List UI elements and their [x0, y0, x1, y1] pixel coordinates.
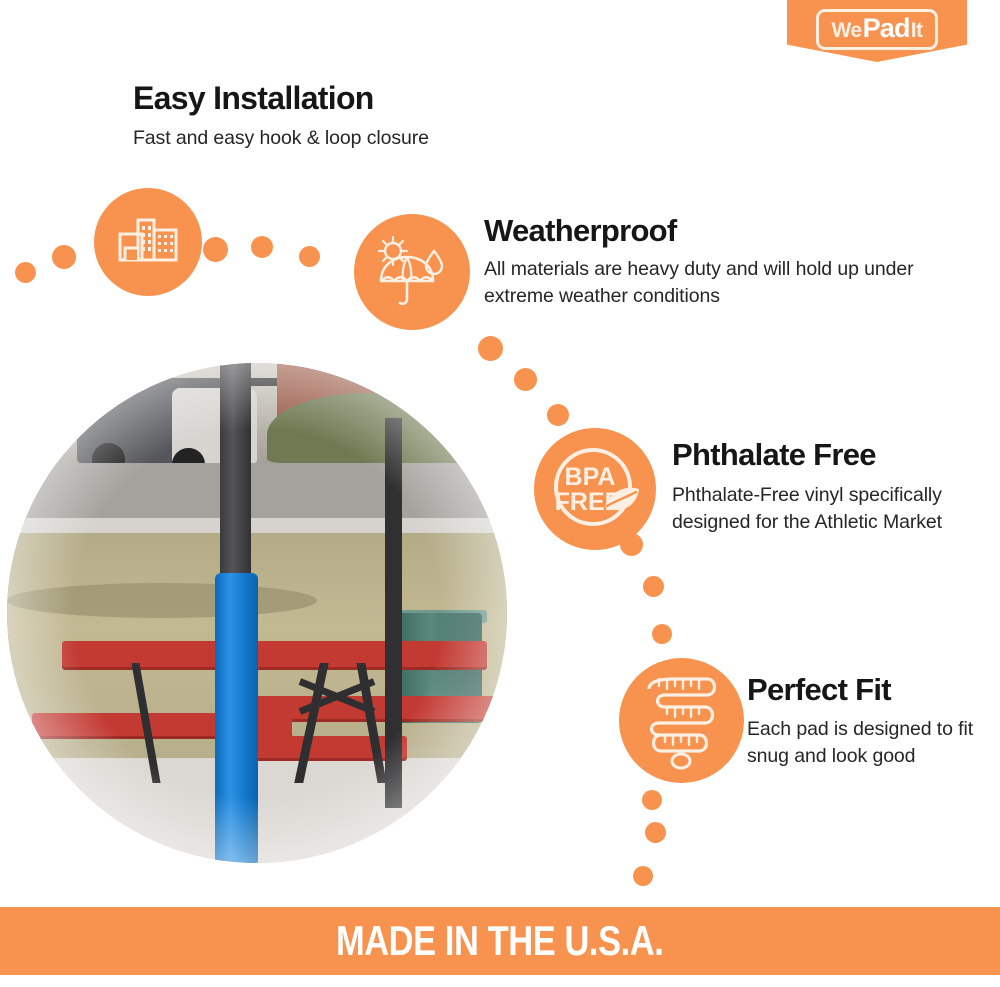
trail-dot [514, 368, 537, 391]
trail-dot [547, 404, 569, 426]
brand-logo-pad: Pad [862, 15, 911, 42]
trail-dot [251, 236, 273, 258]
building-icon [94, 188, 202, 296]
product-photo-scene [7, 363, 507, 863]
bpa-label-line1: BPA [565, 463, 616, 491]
infographic-page: We Pad It Easy Installation Fast and eas… [0, 0, 1000, 987]
feature-title-perfect-fit: Perfect Fit [747, 672, 891, 708]
feature-title-weatherproof: Weatherproof [484, 213, 677, 249]
made-in-usa-text: MADE IN THE U.S.A. [336, 917, 663, 965]
feature-description-easy-installation: Fast and easy hook & loop closure [133, 125, 533, 152]
feature-title-phthalate-free: Phthalate Free [672, 437, 876, 473]
trail-dot [633, 866, 653, 886]
feature-description-perfect-fit: Each pad is designed to fit snug and loo… [747, 716, 987, 770]
brand-logo-we: We [831, 20, 861, 41]
trail-dot [15, 262, 36, 283]
trail-dot [643, 576, 664, 597]
trail-dot [620, 533, 643, 556]
trail-dot [645, 822, 666, 843]
measuring-tape-icon [619, 658, 744, 783]
trail-dot [642, 790, 662, 810]
trail-dot [299, 246, 320, 267]
bpa-free-leaf-icon: BPA FREE [534, 428, 656, 550]
trail-dot [203, 237, 228, 262]
feature-title-easy-installation: Easy Installation [133, 80, 374, 117]
feature-description-phthalate-free: Phthalate-Free vinyl specifically design… [672, 482, 972, 536]
made-in-usa-banner: MADE IN THE U.S.A. [0, 907, 1000, 975]
brand-logo-it: It [911, 20, 923, 41]
product-photo [7, 363, 507, 863]
brand-logo-badge: We Pad It [787, 0, 967, 62]
trail-dot [52, 245, 76, 269]
brand-logo-frame: We Pad It [816, 9, 937, 50]
trail-dot [478, 336, 503, 361]
photo-vignette [7, 363, 507, 863]
umbrella-sun-rain-icon [354, 214, 470, 330]
feature-description-weatherproof: All materials are heavy duty and will ho… [484, 256, 914, 310]
trail-dot [652, 624, 672, 644]
